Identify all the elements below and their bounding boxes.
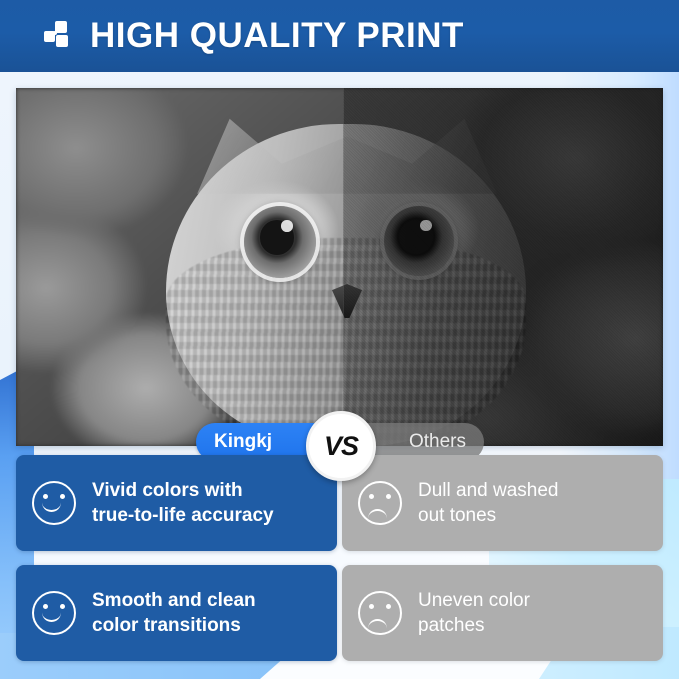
feature-bad-1: Dull and washed out tones: [342, 455, 663, 551]
owl-scene-bright: [16, 88, 343, 446]
feature-bad-1-line1: Dull and washed: [418, 480, 558, 501]
header-bar: HIGH QUALITY PRINT: [0, 0, 679, 72]
feature-good-2-line2: color transitions: [92, 615, 241, 636]
sad-face-icon: [358, 481, 402, 525]
squares-cluster-icon: [44, 21, 74, 51]
photo-half-left: [16, 88, 343, 446]
header-content: HIGH QUALITY PRINT: [0, 16, 464, 56]
owl-left-eye: [244, 206, 316, 278]
feature-good-1-text: Vivid colors with true-to-life accuracy: [92, 478, 274, 528]
product-comparison-infographic: HIGH QUALITY PRINT: [0, 0, 679, 679]
photo-half-right: [343, 88, 663, 446]
smiley-face-icon: [32, 481, 76, 525]
feature-good-1-line2: true-to-life accuracy: [92, 505, 274, 526]
feature-grid: Vivid colors with true-to-life accuracy …: [16, 455, 663, 665]
comparison-photo: [16, 88, 663, 446]
page-title: HIGH QUALITY PRINT: [90, 16, 464, 56]
feature-bad-2-line2: patches: [418, 615, 485, 636]
feature-good-1: Vivid colors with true-to-life accuracy: [16, 455, 337, 551]
photo-noise-overlay: [343, 88, 663, 446]
feature-good-2-text: Smooth and clean color transitions: [92, 588, 256, 638]
feature-good-2-line1: Smooth and clean: [92, 590, 256, 611]
feature-bad-2-line1: Uneven color: [418, 590, 530, 611]
feature-bad-1-line2: out tones: [418, 505, 496, 526]
others-label: Others: [409, 431, 466, 453]
feature-bad-2: Uneven color patches: [342, 565, 663, 661]
feature-good-1-line1: Vivid colors with: [92, 480, 243, 501]
vs-label: VS: [324, 431, 358, 462]
feature-bad-1-text: Dull and washed out tones: [418, 478, 558, 528]
photo-split-divider: [343, 88, 344, 446]
sad-face-icon: [358, 591, 402, 635]
feature-good-2: Smooth and clean color transitions: [16, 565, 337, 661]
smiley-face-icon: [32, 591, 76, 635]
feature-bad-2-text: Uneven color patches: [418, 588, 530, 638]
brand-label: Kingkj: [214, 431, 272, 453]
vs-badge: VS: [306, 411, 376, 481]
